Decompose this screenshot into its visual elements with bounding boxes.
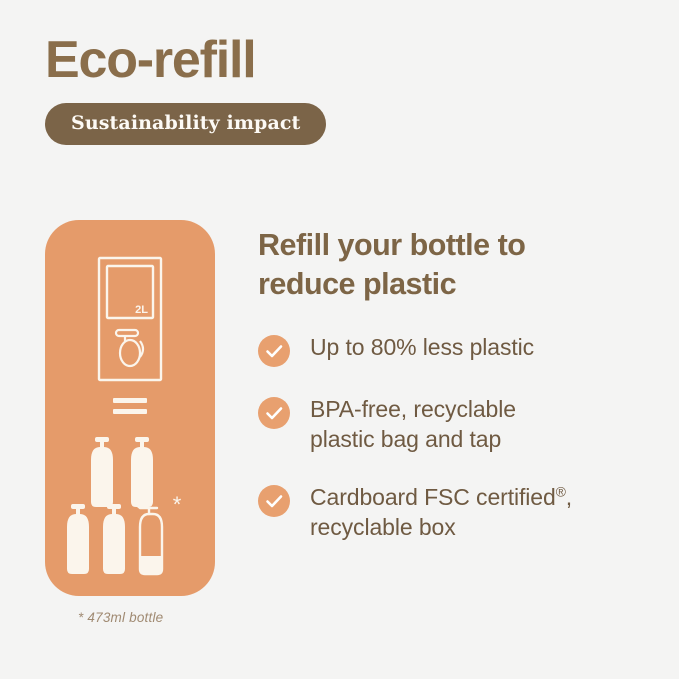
section-heading: Refill your bottle to reduce plastic xyxy=(258,226,658,303)
list-item-line-2: plastic bag and tap xyxy=(310,425,516,455)
section-heading-line-1: Refill your bottle to xyxy=(258,226,658,265)
content-column: Refill your bottle to reduce plastic Up … xyxy=(258,226,658,543)
list-item-line-1: BPA-free, recyclable xyxy=(310,395,516,425)
illustration-panel: 2L xyxy=(45,220,215,596)
refill-box-icon xyxy=(99,258,161,380)
footnote-text: * 473ml bottle xyxy=(78,610,163,625)
asterisk-marker: * xyxy=(173,492,182,517)
bottle-icon xyxy=(103,504,125,574)
tap-icon xyxy=(116,330,143,366)
bottle-icon xyxy=(67,504,89,574)
list-item-text: Up to 80% less plastic xyxy=(310,333,534,363)
check-circle-icon xyxy=(258,397,290,429)
status-badge: Sustainability impact xyxy=(45,103,326,145)
bottle-icon xyxy=(131,437,153,507)
list-item-line-1: Cardboard FSC certified®, xyxy=(310,483,572,513)
registered-trademark-mark: ® xyxy=(556,485,566,500)
list-item-line-1-main: Cardboard FSC certified xyxy=(310,484,556,510)
list-item: BPA-free, recyclable plastic bag and tap xyxy=(258,395,658,455)
benefits-list: Up to 80% less plastic BPA-free, recycla… xyxy=(258,333,658,543)
list-item-line-1-tail: , xyxy=(566,484,572,510)
bottle-group-top xyxy=(91,437,153,507)
equals-icon xyxy=(113,398,147,414)
list-item-line-2: recyclable box xyxy=(310,513,572,543)
list-item: Cardboard FSC certified®, recyclable box xyxy=(258,483,658,543)
list-item: Up to 80% less plastic xyxy=(258,333,658,367)
section-heading-line-2: reduce plastic xyxy=(258,265,658,304)
page-title: Eco-refill xyxy=(45,33,326,88)
page-header: Eco-refill Sustainability impact xyxy=(45,33,326,145)
list-item-text: BPA-free, recyclable plastic bag and tap xyxy=(310,395,516,455)
box-volume-label: 2L xyxy=(135,304,148,316)
list-item-line-1: Up to 80% less plastic xyxy=(310,333,534,363)
check-circle-icon xyxy=(258,485,290,517)
refill-illustration: 2L xyxy=(45,220,215,596)
bottle-group-bottom xyxy=(67,503,162,574)
check-circle-icon xyxy=(258,335,290,367)
bottle-icon xyxy=(91,437,113,507)
spray-bottle-icon xyxy=(134,503,162,574)
list-item-text: Cardboard FSC certified®, recyclable box xyxy=(310,483,572,543)
